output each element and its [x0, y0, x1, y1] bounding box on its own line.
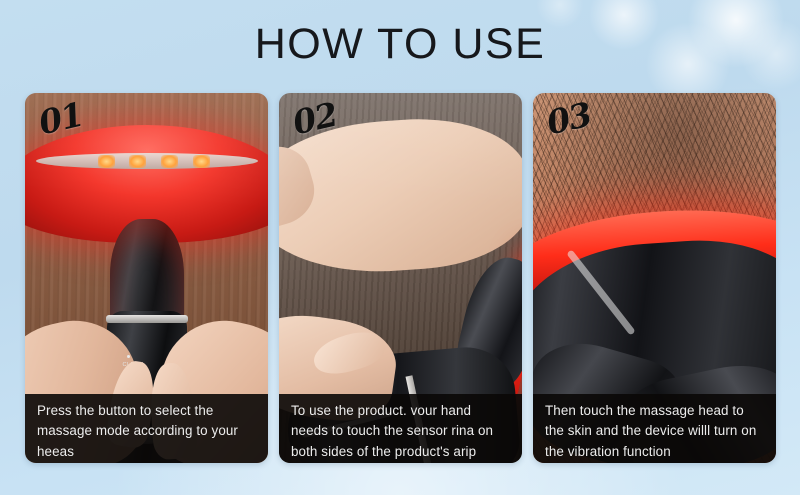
page-title: HOW TO USE — [0, 21, 800, 68]
how-to-use-infographic: HOW TO USE CLEAN — [0, 0, 800, 495]
step-card-02[interactable]: 02 To use the product. vour hand needs t… — [279, 93, 522, 463]
led-light — [161, 155, 178, 168]
step-card-03[interactable]: 03 Then touch the massage head to the sk… — [533, 93, 776, 463]
led-light — [193, 155, 210, 168]
led-light — [98, 155, 115, 168]
led-light — [129, 155, 146, 168]
step-caption-03: Then touch the massage head to the skin … — [533, 394, 776, 463]
led-lights — [98, 155, 220, 171]
mode-indicator-dot — [127, 355, 130, 358]
step-card-01[interactable]: CLEAN HOT MSG 01 Press the button to sel… — [25, 93, 268, 463]
device-chrome-ring — [106, 315, 188, 323]
step-caption-02: To use the product. vour hand needs to t… — [279, 394, 522, 463]
step-caption-01: Press the button to select the massage m… — [25, 394, 268, 463]
